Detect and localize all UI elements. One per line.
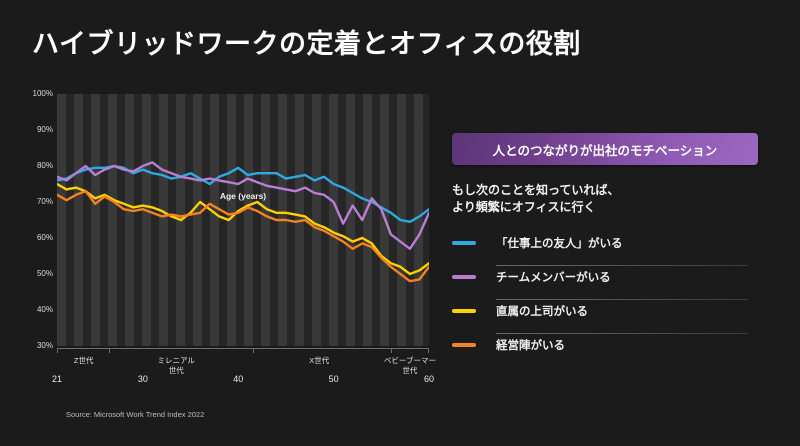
- legend-item-content: 直属の上司がいる: [452, 303, 588, 319]
- legend-color-swatch: [452, 275, 476, 279]
- panel-subtitle-line1: もし次のことを知っていれば、: [452, 182, 764, 199]
- y-axis-tick-label: 90%: [37, 125, 53, 134]
- legend-item[interactable]: チームメンバーがいる: [452, 266, 752, 300]
- legend-item-content: 経営陣がいる: [452, 337, 565, 353]
- chart-area: 100%90%80%70%60%50%40%30% Age (years) Z世…: [22, 86, 442, 396]
- legend-item-label: チームメンバーがいる: [496, 269, 611, 285]
- x-axis-label: Age (years): [57, 191, 429, 201]
- source-note: Source: Microsoft Work Trend Index 2022: [66, 410, 204, 419]
- y-axis-tick-label: 60%: [37, 233, 53, 242]
- legend-item[interactable]: 「仕事上の友人」がいる: [452, 232, 752, 266]
- generation-label: ミレニアル世代: [158, 356, 195, 376]
- generation-tick: [391, 348, 392, 353]
- highlight-banner: 人とのつながりが出社のモチベーション: [452, 133, 758, 165]
- legend-item-label: 直属の上司がいる: [496, 303, 588, 319]
- y-axis-tick-label: 70%: [37, 197, 53, 206]
- x-axis-tick-label: 21: [52, 374, 62, 384]
- generation-tick: [109, 348, 110, 353]
- generation-tick: [57, 348, 58, 353]
- slide-canvas: ハイブリッドワークの定着とオフィスの役割 100%90%80%70%60%50%…: [0, 0, 800, 446]
- panel-subtitle: もし次のことを知っていれば、 より頻繁にオフィスに行く: [452, 182, 764, 216]
- generation-label-line1: ミレニアル: [158, 356, 195, 366]
- plot-area: [57, 94, 429, 346]
- generation-label: X世代: [309, 356, 329, 366]
- generation-tick: [428, 348, 429, 353]
- legend: 「仕事上の友人」がいるチームメンバーがいる直属の上司がいる経営陣がいる: [452, 232, 752, 368]
- generation-rail: [57, 348, 429, 353]
- x-axis-tick-label: 40: [233, 374, 243, 384]
- y-axis: 100%90%80%70%60%50%40%30%: [22, 86, 55, 354]
- legend-color-swatch: [452, 241, 476, 245]
- generation-rail-line: [57, 348, 429, 349]
- legend-item[interactable]: 直属の上司がいる: [452, 300, 752, 334]
- generation-tick: [253, 348, 254, 353]
- y-axis-tick-label: 30%: [37, 341, 53, 350]
- legend-item-label: 経営陣がいる: [496, 337, 565, 353]
- generation-label-line1: X世代: [309, 356, 329, 366]
- legend-color-swatch: [452, 309, 476, 313]
- x-axis-tick-label: 30: [138, 374, 148, 384]
- line-series: [57, 191, 429, 281]
- legend-item-content: チームメンバーがいる: [452, 269, 611, 285]
- line-series: [57, 162, 429, 248]
- y-axis-tick-label: 50%: [37, 269, 53, 278]
- generation-label: Z世代: [74, 356, 94, 366]
- info-panel: 人とのつながりが出社のモチベーション もし次のことを知っていれば、 より頻繁にオ…: [452, 133, 764, 368]
- legend-color-swatch: [452, 343, 476, 347]
- page-title: ハイブリッドワークの定着とオフィスの役割: [32, 22, 581, 61]
- legend-item-label: 「仕事上の友人」がいる: [496, 235, 623, 251]
- y-axis-tick-label: 80%: [37, 161, 53, 170]
- legend-item[interactable]: 経営陣がいる: [452, 334, 752, 368]
- panel-subtitle-line2: より頻繁にオフィスに行く: [452, 199, 764, 216]
- x-axis-tick-label: 50: [329, 374, 339, 384]
- legend-item-content: 「仕事上の友人」がいる: [452, 235, 623, 251]
- y-axis-tick-label: 100%: [33, 89, 53, 98]
- line-series-group: [57, 94, 429, 346]
- generation-label-line1: Z世代: [74, 356, 94, 366]
- x-axis-tick-label: 60: [424, 374, 434, 384]
- generation-label-line2: 世代: [158, 366, 195, 376]
- generation-label-line1: ベビーブーマー: [384, 356, 436, 366]
- y-axis-tick-label: 40%: [37, 305, 53, 314]
- generation-label: ベビーブーマー世代: [384, 356, 436, 376]
